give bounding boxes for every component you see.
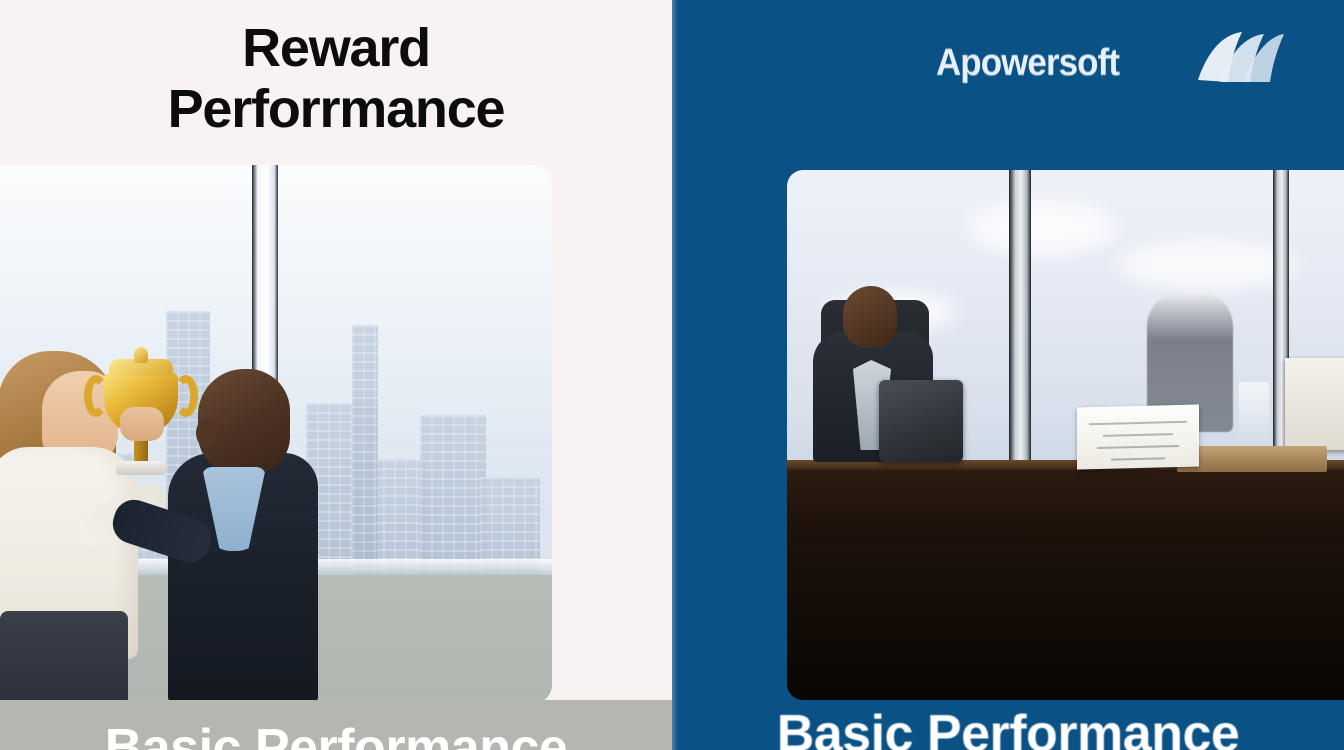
left-caption-text: Basic Performance [0,722,672,750]
panel-divider [672,0,678,750]
man-ear [196,419,216,447]
right-panel: Apowersoft [672,0,1344,750]
laptop [879,380,963,462]
trophy-hands [120,407,164,441]
glass-bottle [1239,382,1269,454]
logo-wordmark: Apowersoft [936,42,1119,85]
right-caption-text: Basic Performance [672,708,1344,750]
title-line-1: Reward [0,20,672,77]
basic-performance-photo [787,170,1344,700]
trophy-handle-left [84,375,108,417]
cloud-2 [1117,240,1297,290]
woman-skirt [0,611,128,703]
certificate [1077,405,1199,470]
wave-mark-icon [1190,28,1286,88]
left-caption-band: Basic Performance [0,700,672,750]
trophy-base [116,461,166,475]
brand-logo[interactable]: Apowersoft [920,28,1280,90]
framed-picture [1285,358,1344,450]
certificate-line-2 [1103,433,1173,437]
trophy-handle-right [174,375,198,417]
left-panel: Reward Perforrmance [0,0,672,750]
trophy-knob [134,347,148,363]
certificate-line-1 [1089,421,1187,425]
title-line-2: Perforrmance [0,81,672,138]
reward-photo [0,165,552,703]
office-desk [787,460,1344,700]
gold-trophy-icon [104,373,178,435]
certificate-line-3 [1097,445,1179,449]
page-title: Reward Perforrmance [0,20,672,138]
certificate-line-4 [1111,457,1165,460]
cloud-1 [967,200,1117,256]
comparison-slide-stage: Reward Perforrmance [0,0,1344,750]
seated-person-head [843,286,897,348]
wooden-tray [1177,446,1327,472]
